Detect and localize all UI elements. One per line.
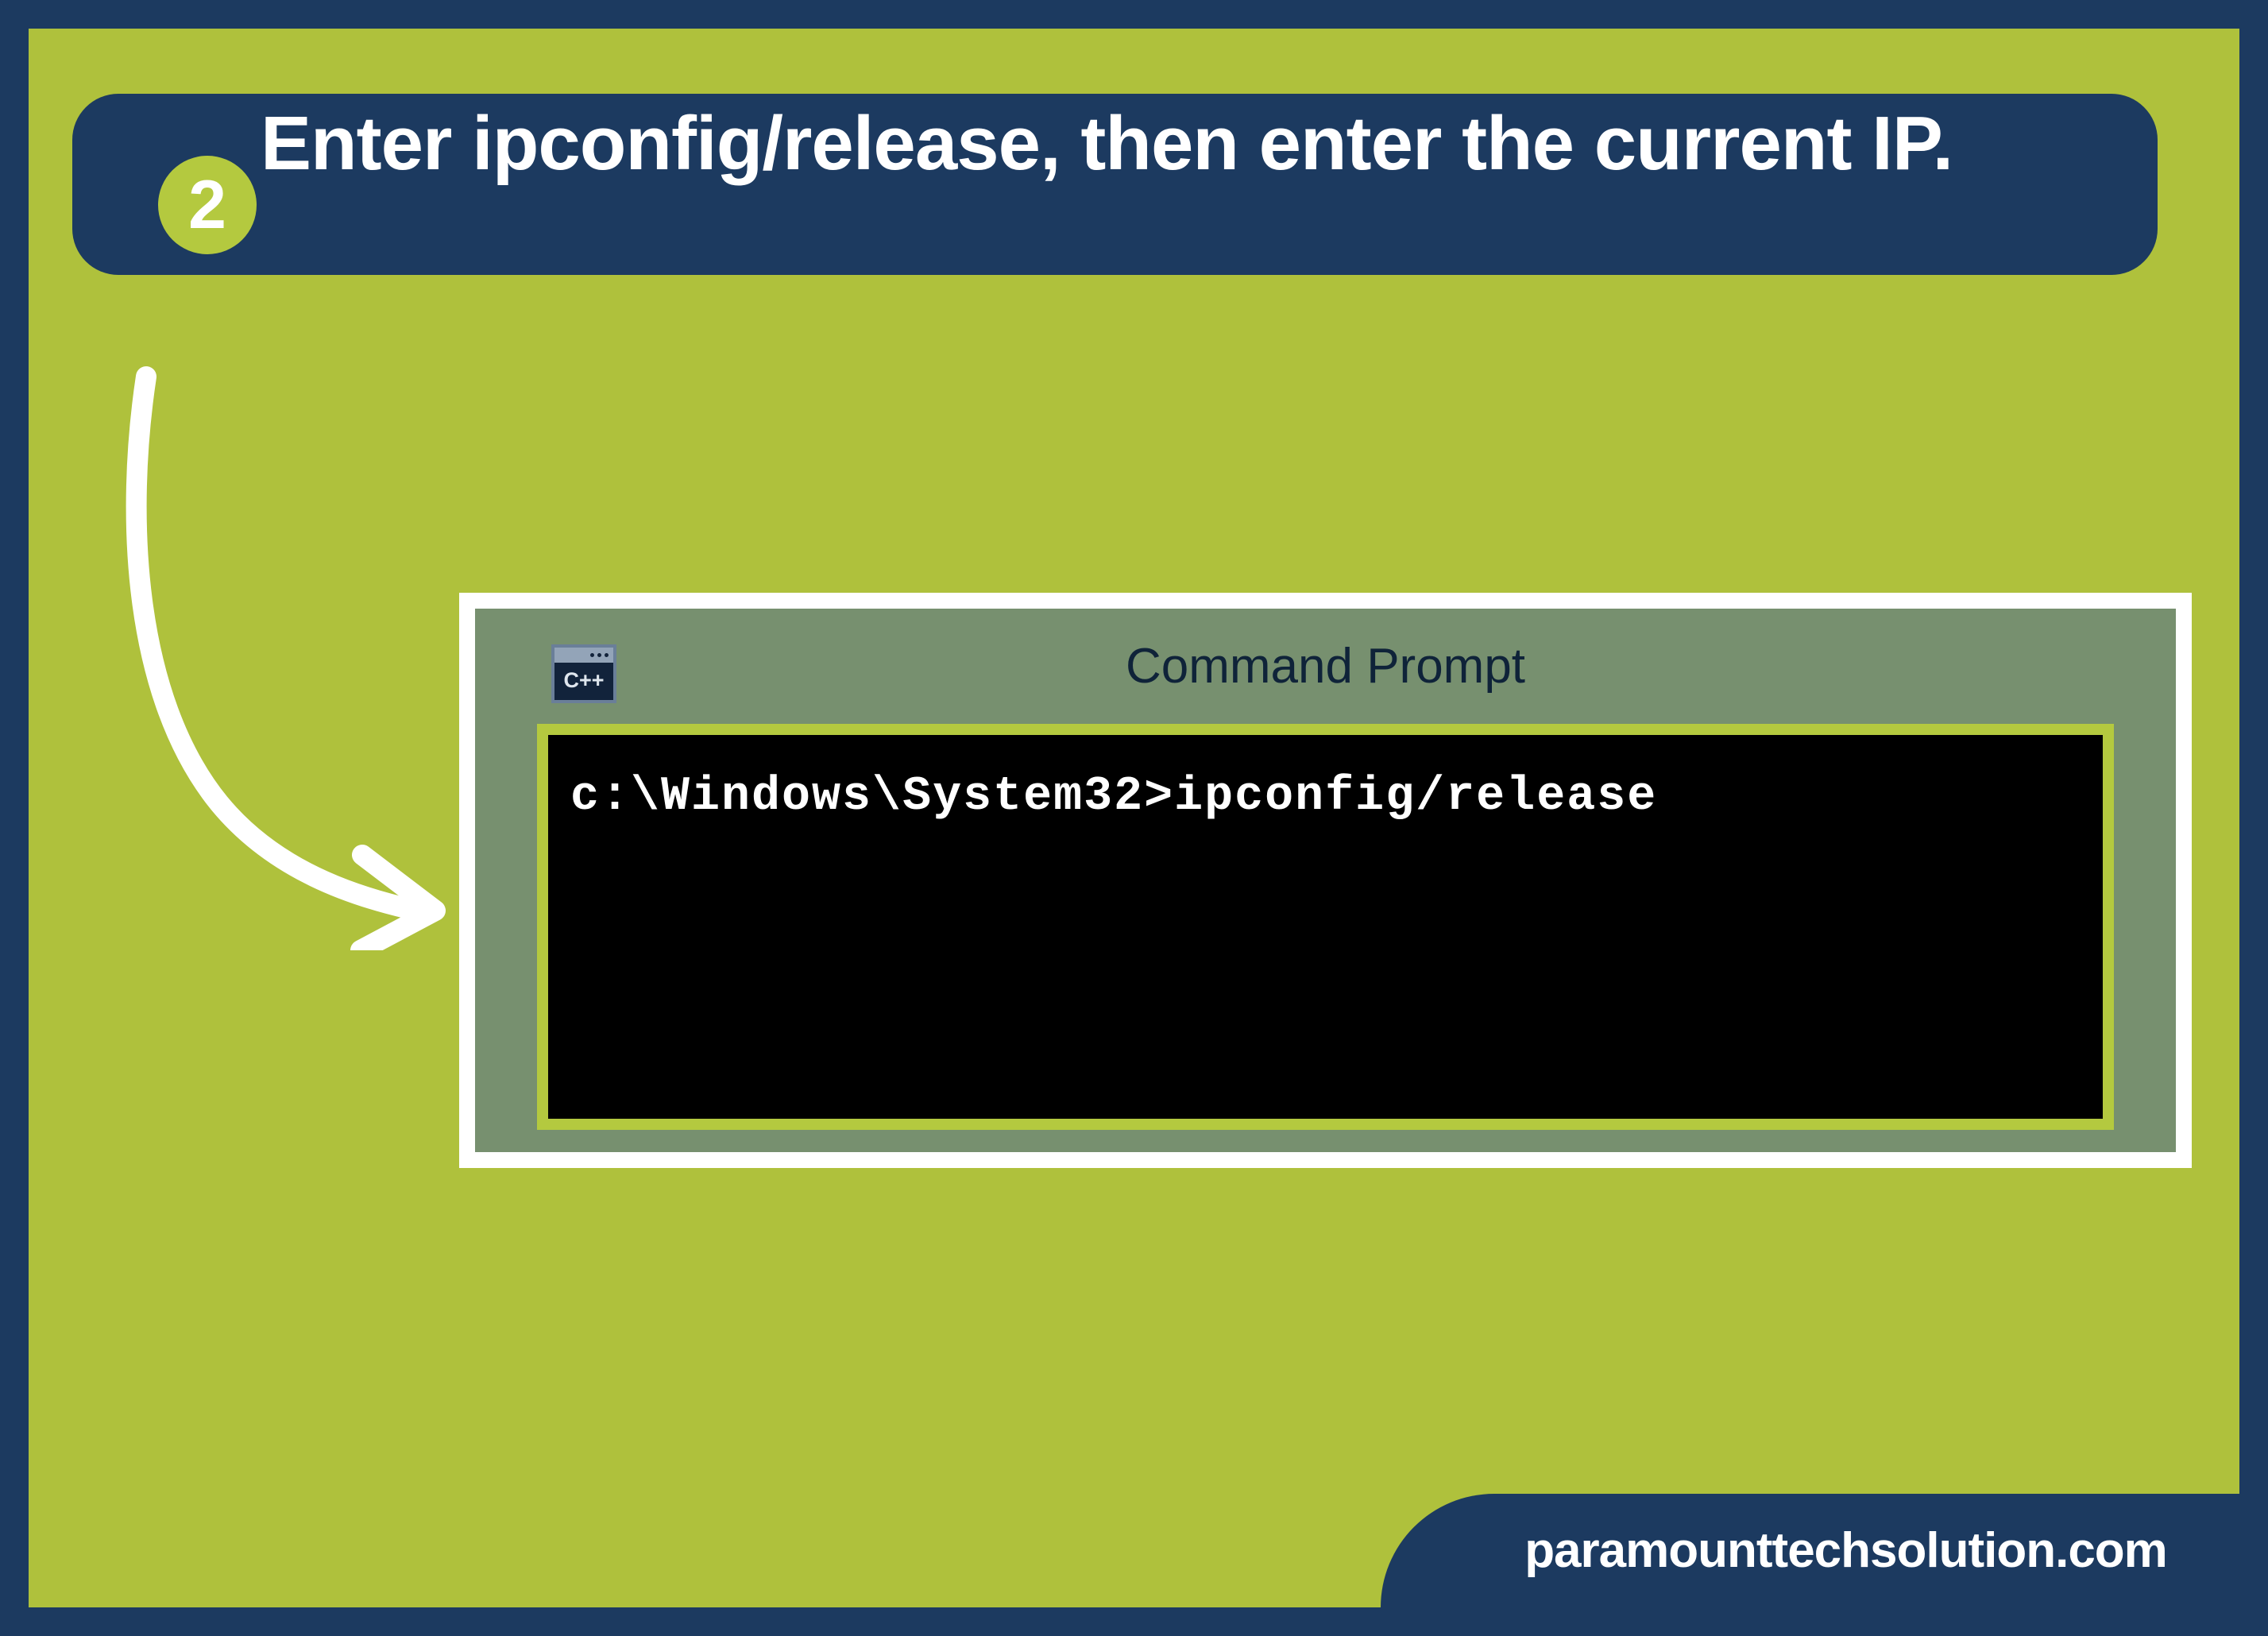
icon-dot [605,653,609,657]
icon-dot [597,653,601,657]
icon-dot [590,653,594,657]
step-header-banner: 2 Enter ipconfig/release, then enter the… [72,94,2158,275]
command-prompt-chrome: C++ Command Prompt c:\Windows\System32>i… [475,609,2176,1152]
icon-label: C++ [554,663,613,698]
icon-titlebar [554,648,613,663]
step-title: Enter ipconfig/release, then enter the c… [261,105,2127,183]
step-number-badge: 2 [158,156,257,254]
command-prompt-title: Command Prompt [1126,638,1525,694]
command-prompt-window[interactable]: C++ Command Prompt c:\Windows\System32>i… [459,593,2192,1168]
slide-canvas: 2 Enter ipconfig/release, then enter the… [29,29,2239,1607]
footer-bar: paramounttechsolution.com [1381,1494,2239,1607]
terminal-command-line: c:\Windows\System32>ipconfig/release [570,770,2103,824]
slide-root: 2 Enter ipconfig/release, then enter the… [0,0,2268,1636]
footer-website-url[interactable]: paramounttechsolution.com [1524,1522,2167,1579]
terminal-screen[interactable]: c:\Windows\System32>ipconfig/release [548,735,2103,1119]
step-number-label: 2 [188,171,226,239]
terminal-screen-border: c:\Windows\System32>ipconfig/release [537,724,2114,1130]
cpp-console-icon: C++ [551,644,616,703]
command-prompt-titlebar: C++ Command Prompt [475,609,2176,724]
